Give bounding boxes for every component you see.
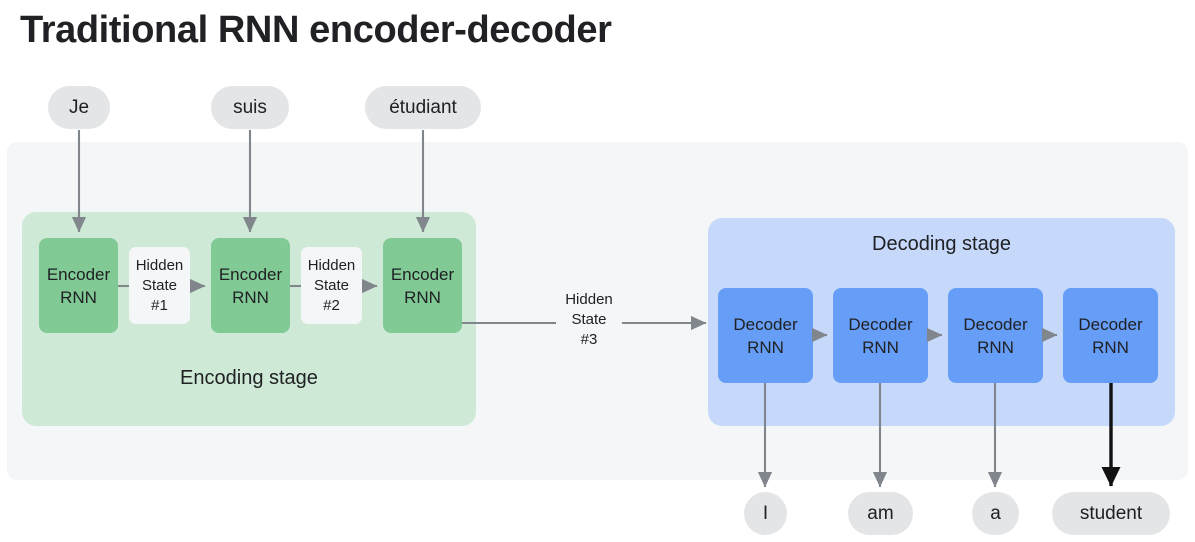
decoder-rnn-cell-2[interactable]: Decoder RNN [833,288,928,383]
hidden-state-line3: #2 [323,296,340,316]
hidden-state-box-2[interactable]: Hidden State #2 [301,247,362,324]
input-token-pill-suis[interactable]: suis [211,86,289,129]
diagram-canvas: Traditional RNN encoder-decoder Encoding… [0,0,1195,542]
decoder-rnn-cell-4[interactable]: Decoder RNN [1063,288,1158,383]
decoder-cell-line2: RNN [747,336,784,359]
hidden-state-line1: Hidden [565,290,613,310]
output-token-label: I [763,503,768,525]
hidden-state-line3: #3 [581,330,598,350]
decoder-rnn-cell-3[interactable]: Decoder RNN [948,288,1043,383]
hidden-state-line2: State [571,310,606,330]
decoder-cell-line1: Decoder [963,313,1027,336]
encoder-cell-line2: RNN [232,286,269,309]
encoder-rnn-cell-3[interactable]: Encoder RNN [383,238,462,333]
decoder-cell-line1: Decoder [733,313,797,336]
encoder-cell-line1: Encoder [391,263,454,286]
output-token-pill-student[interactable]: student [1052,492,1170,535]
output-token-label: am [867,503,893,525]
encoder-cell-line1: Encoder [219,263,282,286]
output-token-pill-a[interactable]: a [972,492,1019,535]
input-token-pill-etudiant[interactable]: étudiant [365,86,481,129]
decoding-stage-label: Decoding stage [708,231,1175,257]
hidden-state-line2: State [314,276,349,296]
decoder-cell-line1: Decoder [848,313,912,336]
hidden-state-line1: Hidden [308,256,356,276]
decoder-cell-line1: Decoder [1078,313,1142,336]
hidden-state-line3: #1 [151,296,168,316]
output-token-label: student [1080,503,1142,525]
encoder-cell-line2: RNN [404,286,441,309]
encoder-rnn-cell-1[interactable]: Encoder RNN [39,238,118,333]
page-title: Traditional RNN encoder-decoder [20,4,920,56]
decoder-rnn-cell-1[interactable]: Decoder RNN [718,288,813,383]
encoder-cell-line1: Encoder [47,263,110,286]
hidden-state-box-1[interactable]: Hidden State #1 [129,247,190,324]
hidden-state-box-3[interactable]: Hidden State #3 [556,283,622,357]
decoder-cell-line2: RNN [977,336,1014,359]
input-token-label: suis [233,97,267,119]
encoder-rnn-cell-2[interactable]: Encoder RNN [211,238,290,333]
hidden-state-line2: State [142,276,177,296]
decoder-cell-line2: RNN [862,336,899,359]
input-token-pill-je[interactable]: Je [48,86,110,129]
encoder-cell-line2: RNN [60,286,97,309]
hidden-state-line1: Hidden [136,256,184,276]
decoder-cell-line2: RNN [1092,336,1129,359]
output-token-pill-am[interactable]: am [848,492,913,535]
input-token-label: étudiant [389,97,457,119]
input-token-label: Je [69,97,89,119]
output-token-label: a [990,503,1001,525]
output-token-pill-i[interactable]: I [744,492,787,535]
encoding-stage-label: Encoding stage [22,365,476,391]
